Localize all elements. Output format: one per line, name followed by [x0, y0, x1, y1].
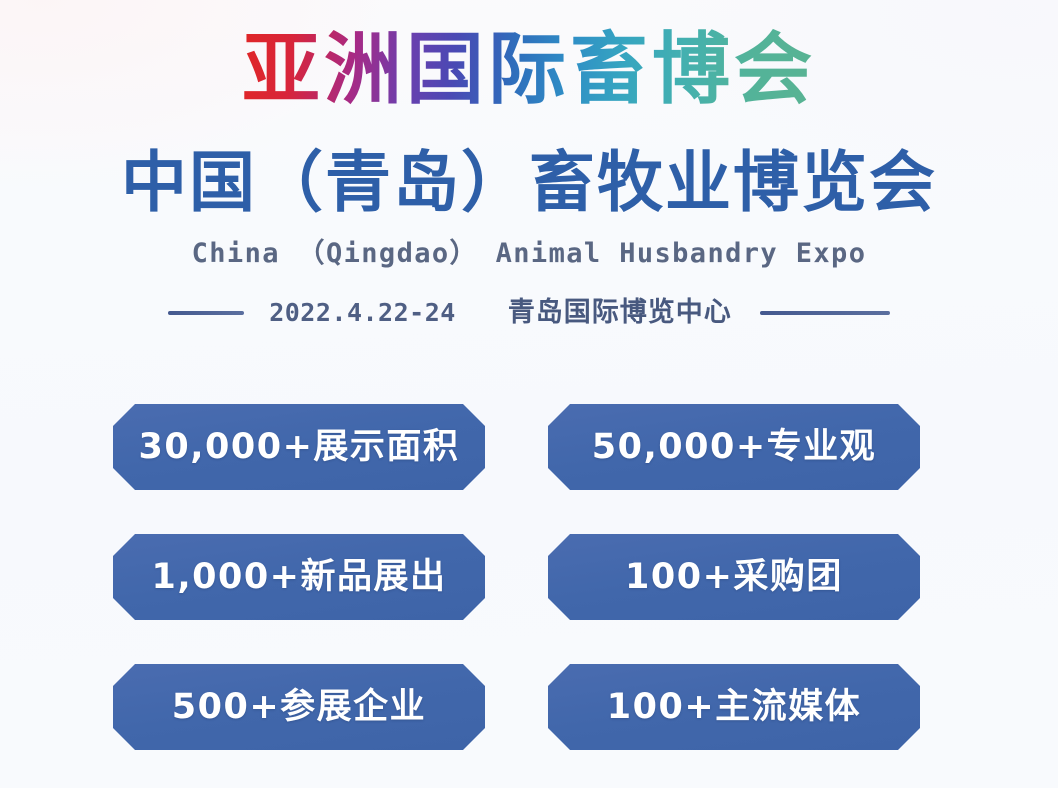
stat-badge: 500+参展企业 [113, 664, 485, 750]
stat-badge-label: 50,000+专业观 [592, 426, 876, 468]
top-headline-container: 亚洲国际畜博会 [0, 18, 1058, 126]
stats-grid: 30,000+展示面积 50,000+专业观 1,000+新品展出 100+采购… [113, 404, 920, 758]
stat-badge: 100+主流媒体 [548, 664, 920, 750]
stat-badge-label: 30,000+展示面积 [139, 426, 460, 468]
divider-line-left [168, 311, 244, 315]
expo-poster: 亚洲国际畜博会 中国（青岛）畜牧业博览会 China （Qingdao） Ani… [0, 0, 1058, 788]
top-headline: 亚洲国际畜博会 [242, 18, 816, 122]
date-venue-row: 2022.4.22-24 青岛国际博览中心 [0, 294, 1058, 332]
event-venue: 青岛国际博览中心 [508, 297, 732, 329]
stat-badge-label: 500+参展企业 [172, 686, 426, 728]
stat-badge-label: 100+采购团 [625, 556, 843, 598]
stat-badge: 50,000+专业观 [548, 404, 920, 490]
event-date: 2022.4.22-24 [269, 298, 456, 328]
main-title: 中国（青岛）畜牧业博览会 [0, 140, 1058, 226]
stat-badge: 30,000+展示面积 [113, 404, 485, 490]
divider-line-right [760, 311, 890, 315]
stat-badge: 1,000+新品展出 [113, 534, 485, 620]
english-subtitle: China （Qingdao） Animal Husbandry Expo [0, 237, 1058, 271]
stat-badge-label: 100+主流媒体 [607, 686, 861, 728]
stat-badge: 100+采购团 [548, 534, 920, 620]
stat-badge-label: 1,000+新品展出 [151, 556, 446, 598]
